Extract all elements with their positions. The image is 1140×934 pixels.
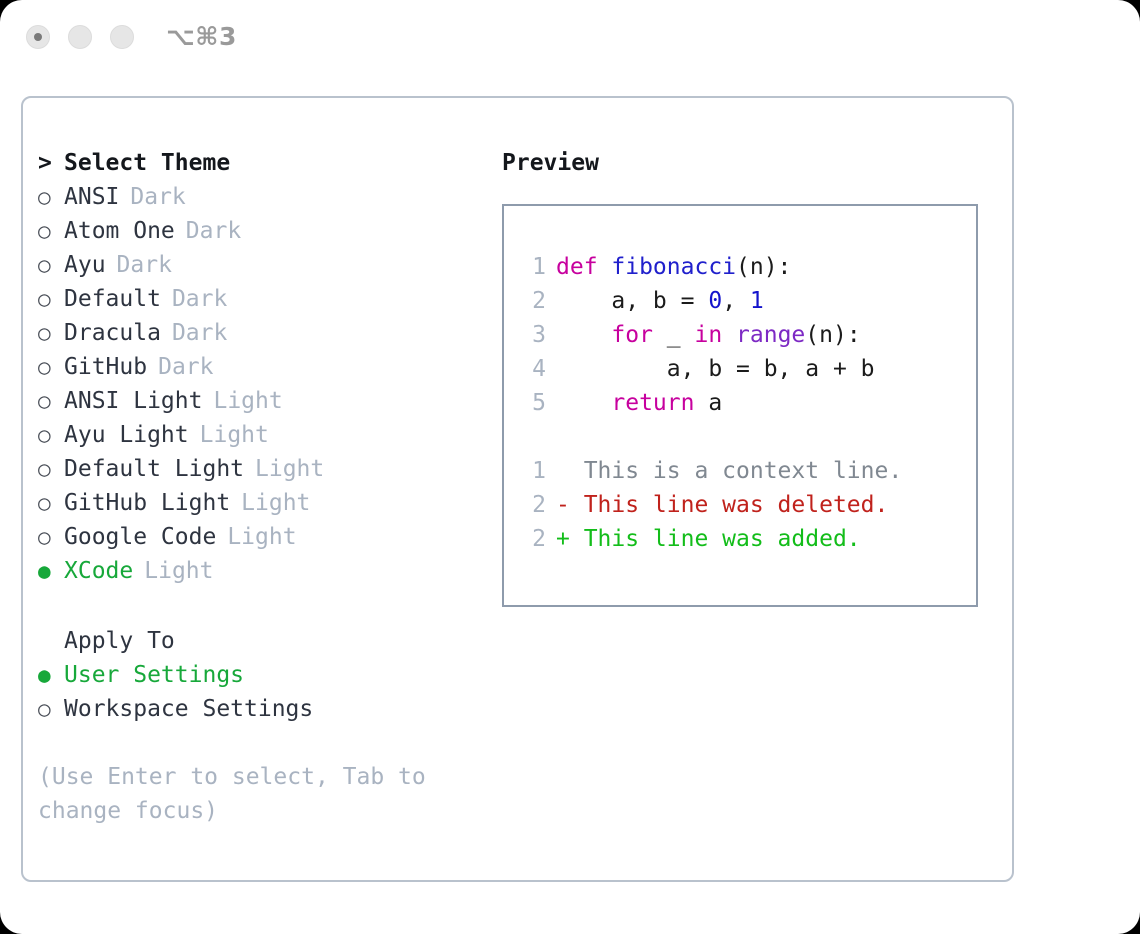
code-token-txt [722,322,736,348]
radio-selected-icon[interactable]: ● [38,554,64,588]
apply-to-title: Apply To [64,624,175,658]
code-token-kw: def [556,254,611,280]
apply-to-option-label: Workspace Settings [64,692,313,726]
theme-option-label: Atom One [64,214,175,248]
radio-unselected-icon[interactable]: ○ [38,248,64,282]
code-line: 4 a, b = b, a + b [520,352,976,386]
theme-variant-badge: Light [200,418,269,452]
select-theme-title: Select Theme [64,146,230,180]
code-token-txt [556,390,611,416]
theme-variant-badge: Dark [172,282,227,316]
code-token-fn: fibonacci [611,254,736,280]
radio-unselected-icon[interactable]: ○ [38,418,64,452]
theme-picker-panel: > Select Theme ○ANSIDark○Atom OneDark○Ay… [21,96,1014,882]
code-line: 1def fibonacci(n): [520,250,976,284]
close-button-icon[interactable] [26,25,50,49]
theme-option-label: XCode [64,554,133,588]
line-number: 2 [520,488,546,522]
diff-line: 2- This line was deleted. [520,488,976,522]
code-token-txt: a [694,390,722,416]
diff-line-content: + This line was added. [556,522,861,556]
theme-option-label: Default [64,282,161,316]
theme-option-label: Ayu [64,248,106,282]
code-line: 3 for _ in range(n): [520,318,976,352]
theme-option-row[interactable]: ○DraculaDark [38,316,498,350]
diff-sample: 1 This is a context line.2- This line wa… [520,454,976,556]
theme-variant-badge: Light [213,384,282,418]
apply-to-option-label: User Settings [64,658,244,692]
apply-to-spacer [38,624,64,658]
theme-variant-badge: Dark [172,316,227,350]
theme-variant-badge: Light [255,452,324,486]
code-token-txt: (n): [805,322,860,348]
theme-variant-badge: Light [227,520,296,554]
apply-to-option-row[interactable]: ○Workspace Settings [38,692,498,726]
code-token-txt: , [722,288,750,314]
code-token-txt: a, b = b, a + b [556,356,875,382]
code-line-content: return a [556,386,722,420]
radio-unselected-icon[interactable]: ○ [38,452,64,486]
line-number: 4 [520,352,546,386]
code-token-kw: in [694,322,722,348]
traffic-light-buttons [26,25,134,49]
code-token-kw: return [611,390,694,416]
diff-line-content: This is a context line. [556,454,902,488]
theme-option-row[interactable]: ○AyuDark [38,248,498,282]
code-token-txt: (n): [736,254,791,280]
theme-option-label: Google Code [64,520,216,554]
radio-unselected-icon[interactable]: ○ [38,214,64,248]
code-line-content: a, b = 0, 1 [556,284,764,318]
theme-variant-badge: Dark [130,180,185,214]
theme-option-label: GitHub Light [64,486,230,520]
preview-column: Preview 1def fibonacci(n):2 a, b = 0, 13… [502,146,1002,607]
code-token-txt: a, b = [556,288,708,314]
diff-line: 1 This is a context line. [520,454,976,488]
apply-to-group: Apply To ●User Settings○Workspace Settin… [38,624,498,726]
radio-selected-icon[interactable]: ● [38,658,64,692]
window-title-shortcut: ⌥⌘3 [166,22,237,51]
radio-unselected-icon[interactable]: ○ [38,282,64,316]
theme-variant-badge: Light [144,554,213,588]
prompt-caret-icon: > [38,146,64,180]
theme-option-row[interactable]: ○ANSIDark [38,180,498,214]
terminal-window: ⌥⌘3 > Select Theme ○ANSIDark○Atom OneDar… [0,0,1140,934]
code-token-txt [556,322,611,348]
theme-option-label: Dracula [64,316,161,350]
maximize-button-icon[interactable] [110,25,134,49]
theme-option-row[interactable]: ○GitHub LightLight [38,486,498,520]
code-token-num: 1 [750,288,764,314]
line-number: 2 [520,284,546,318]
code-line-content: def fibonacci(n): [556,250,791,284]
line-number: 5 [520,386,546,420]
theme-option-row[interactable]: ○DefaultDark [38,282,498,316]
line-number: 1 [520,454,546,488]
theme-option-label: GitHub [64,350,147,384]
apply-to-option-row[interactable]: ●User Settings [38,658,498,692]
theme-option-label: ANSI Light [64,384,202,418]
theme-option-list: ○ANSIDark○Atom OneDark○AyuDark○DefaultDa… [38,180,498,588]
radio-unselected-icon[interactable]: ○ [38,486,64,520]
theme-option-row[interactable]: ○Ayu LightLight [38,418,498,452]
theme-variant-badge: Light [241,486,310,520]
theme-option-row[interactable]: ○GitHubDark [38,350,498,384]
code-line-content: for _ in range(n): [556,318,861,352]
keyboard-hint-text: (Use Enter to select, Tab to change focu… [38,760,438,828]
code-token-num: 0 [708,288,722,314]
theme-option-label: ANSI [64,180,119,214]
radio-unselected-icon[interactable]: ○ [38,350,64,384]
diff-line-content: - This line was deleted. [556,488,888,522]
radio-unselected-icon[interactable]: ○ [38,384,64,418]
code-sample: 1def fibonacci(n):2 a, b = 0, 13 for _ i… [520,250,976,420]
radio-unselected-icon[interactable]: ○ [38,692,64,726]
theme-variant-badge: Dark [158,350,213,384]
code-line: 5 return a [520,386,976,420]
theme-option-row[interactable]: ○Google CodeLight [38,520,498,554]
theme-list-column: > Select Theme ○ANSIDark○Atom OneDark○Ay… [38,146,498,828]
code-diff-separator [520,420,976,454]
theme-option-label: Default Light [64,452,244,486]
code-token-kw: for [611,322,653,348]
select-theme-header: > Select Theme [38,146,498,180]
code-line-content: a, b = b, a + b [556,352,875,386]
window-titlebar: ⌥⌘3 [0,0,1140,78]
theme-variant-badge: Dark [117,248,172,282]
code-token-call: range [736,322,805,348]
apply-to-option-list: ●User Settings○Workspace Settings [38,658,498,726]
preview-title: Preview [502,146,1002,180]
line-number: 2 [520,522,546,556]
radio-unselected-icon[interactable]: ○ [38,520,64,554]
preview-code-box: 1def fibonacci(n):2 a, b = 0, 13 for _ i… [502,204,978,607]
code-token-txt: _ [653,322,695,348]
code-line: 2 a, b = 0, 1 [520,284,976,318]
theme-option-row[interactable]: ○ANSI LightLight [38,384,498,418]
radio-unselected-icon[interactable]: ○ [38,316,64,350]
theme-variant-badge: Dark [186,214,241,248]
theme-option-row[interactable]: ●XCodeLight [38,554,498,588]
line-number: 1 [520,250,546,284]
theme-option-row[interactable]: ○Default LightLight [38,452,498,486]
line-number: 3 [520,318,546,352]
minimize-button-icon[interactable] [68,25,92,49]
theme-option-label: Ayu Light [64,418,189,452]
radio-unselected-icon[interactable]: ○ [38,180,64,214]
active-indicator-dot [34,33,42,41]
apply-to-header: Apply To [38,624,498,658]
theme-option-row[interactable]: ○Atom OneDark [38,214,498,248]
diff-line: 2+ This line was added. [520,522,976,556]
